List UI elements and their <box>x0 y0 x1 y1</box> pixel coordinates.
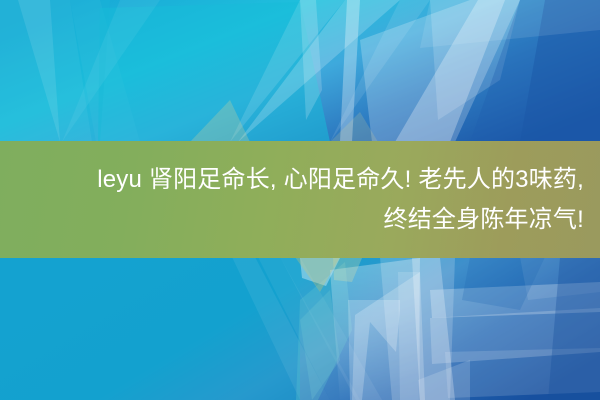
headline-text-block: leyu 肾阳足命长, 心阳足命久! 老先人的3味药, 终结全身陈年凉气! <box>0 141 600 258</box>
headline-line-2: 终结全身陈年凉气! <box>384 200 584 240</box>
top-panel-shapes <box>0 0 600 142</box>
bottom-panel-shapes <box>0 257 600 400</box>
headline-line-1: leyu 肾阳足命长, 心阳足命久! 老先人的3味药, <box>97 160 584 200</box>
promo-banner: leyu 肾阳足命长, 心阳足命久! 老先人的3味药, 终结全身陈年凉气! <box>0 0 600 400</box>
